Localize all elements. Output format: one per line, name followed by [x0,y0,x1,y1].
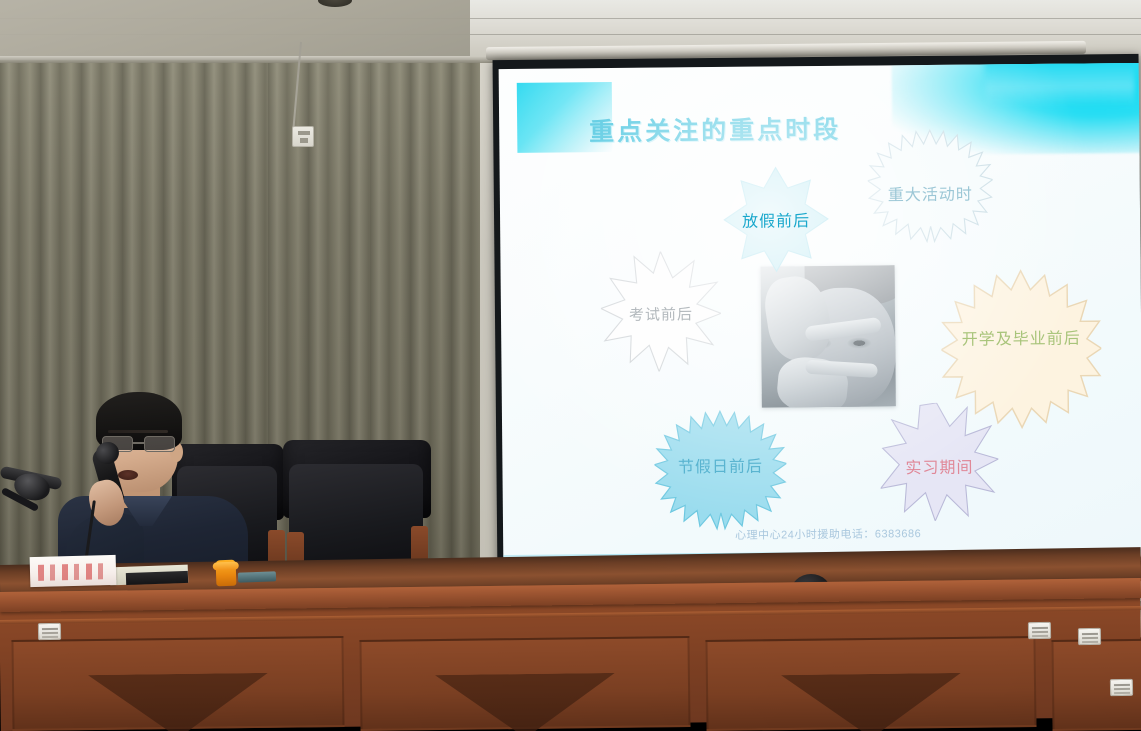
podium-panel [11,636,344,731]
name-placard [30,555,117,587]
slide-footer-text: 心理中心24小时援助电话：6383686 [735,525,921,543]
center-photo [761,265,896,407]
notebook[interactable] [126,571,188,585]
presentation-slide[interactable]: 重点关注的重点时段 放假前后 重大活动时 [499,63,1141,567]
slide-decoration-top-right-2 [985,63,1135,108]
bubble-label: 节假日前后 [678,453,763,478]
power-outlet-icon[interactable] [292,126,314,147]
lecture-hall-scene: 重点关注的重点时段 放假前后 重大活动时 [0,0,1141,731]
podium-panel [705,636,1036,731]
asset-tag [38,623,61,640]
bubble-label: 考试前后 [629,303,693,325]
bubble-label: 开学及毕业前后 [962,324,1081,349]
podium-panel [359,636,690,731]
asset-tag [1028,622,1051,639]
bubble-label: 放假前后 [742,207,810,232]
teal-desk-object[interactable] [238,571,276,582]
bubble-kaoshi[interactable]: 考试前后 [600,251,721,377]
asset-tag [1078,628,1101,645]
bubble-label: 重大活动时 [888,181,973,206]
speaker-mouth [118,470,138,480]
slide-title: 重点关注的重点时段 [589,110,841,148]
bubble-label: 实习期间 [905,453,973,478]
ceiling-shadow [0,0,470,62]
name-placard-text [38,563,108,581]
bubble-fangjia[interactable]: 放假前后 [722,165,831,274]
asset-tag [1110,679,1133,696]
bubble-kaixue[interactable]: 开学及毕业前后 [941,268,1102,405]
speaker-brow [108,430,168,433]
bubble-jiejiari[interactable]: 节假日前后 [654,409,787,520]
bubble-zhongda[interactable]: 重大活动时 [867,128,993,257]
bubble-shixi[interactable]: 实习期间 [880,402,999,528]
yellow-desk-object[interactable] [216,560,237,587]
